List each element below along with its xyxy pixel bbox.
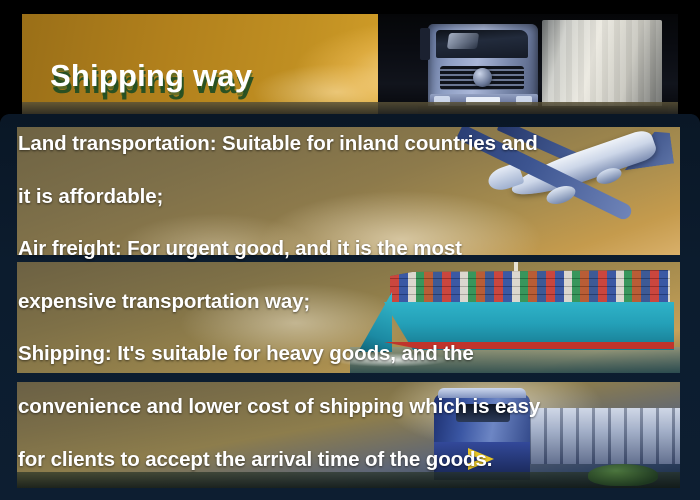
truck-emblem-icon — [473, 68, 492, 87]
truck-trailer-icon — [542, 20, 662, 108]
body-line-2: it is affordable; — [18, 185, 690, 209]
body-line-5: Shipping: It's suitable for heavy goods,… — [18, 342, 690, 366]
body-line-6: convenience and lower cost of shipping w… — [18, 395, 690, 419]
truck-mirror-icon — [420, 28, 430, 60]
header-bottom-strip — [22, 102, 678, 114]
body-line-3: Air freight: For urgent good, and it is … — [18, 237, 690, 261]
shipping-way-infographic: Shipping way — [0, 0, 700, 500]
railway-track — [17, 472, 680, 488]
body-line-1: Land transportation: Suitable for inland… — [18, 132, 690, 156]
page-title: Shipping way — [50, 58, 252, 94]
body-line-4: expensive transportation way; — [18, 290, 690, 314]
truck-photo — [378, 14, 678, 114]
truck-windshield-icon — [436, 30, 528, 58]
header-banner: Shipping way — [22, 14, 678, 114]
body-line-7: for clients to accept the arrival time o… — [18, 448, 690, 472]
